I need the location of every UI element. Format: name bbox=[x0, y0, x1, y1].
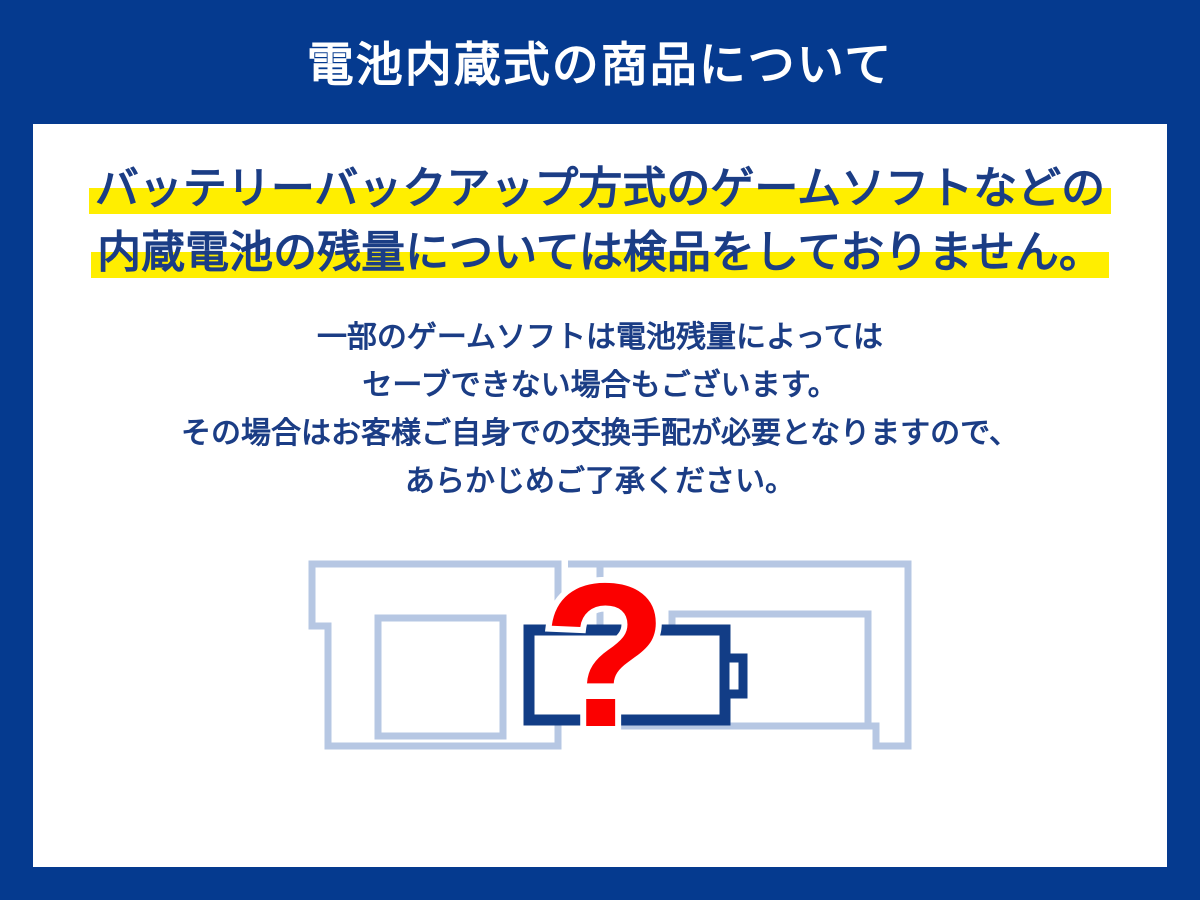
body-block: 一部のゲームソフトは電池残量によっては セーブできない場合もございます。 その場… bbox=[33, 314, 1167, 506]
body-line-1: 一部のゲームソフトは電池残量によっては bbox=[33, 314, 1167, 362]
headline-line-1-text: バッテリーバックアップ方式のゲームソフトなどの bbox=[95, 164, 1105, 213]
content-panel: バッテリーバックアップ方式のゲームソフトなどの 内蔵電池の残量については検品をし… bbox=[33, 124, 1167, 867]
headline-block: バッテリーバックアップ方式のゲームソフトなどの 内蔵電池の残量については検品をし… bbox=[33, 158, 1167, 284]
battery-cartridge-illustration: ? bbox=[300, 554, 920, 784]
headline-line-2-text: 内蔵電池の残量については検品をしておりません。 bbox=[97, 228, 1103, 277]
body-line-2: セーブできない場合もございます。 bbox=[33, 362, 1167, 410]
headline-line-1: バッテリーバックアップ方式のゲームソフトなどの bbox=[95, 158, 1105, 220]
svg-text:?: ? bbox=[542, 554, 667, 770]
page-title: 電池内蔵式の商品について bbox=[307, 41, 894, 88]
question-mark-icon: ? bbox=[542, 554, 667, 770]
body-line-4: あらかじめご了承ください。 bbox=[33, 458, 1167, 506]
body-line-3: その場合はお客様ご自身での交換手配が必要となりますので、 bbox=[33, 410, 1167, 458]
headline-line-2: 内蔵電池の残量については検品をしておりません。 bbox=[97, 222, 1103, 284]
title-banner: 電池内蔵式の商品について bbox=[0, 0, 1200, 124]
slide-canvas: 電池内蔵式の商品について バッテリーバックアップ方式のゲームソフトなどの 内蔵電… bbox=[0, 0, 1200, 900]
game-cartridge-left-icon bbox=[312, 564, 558, 746]
